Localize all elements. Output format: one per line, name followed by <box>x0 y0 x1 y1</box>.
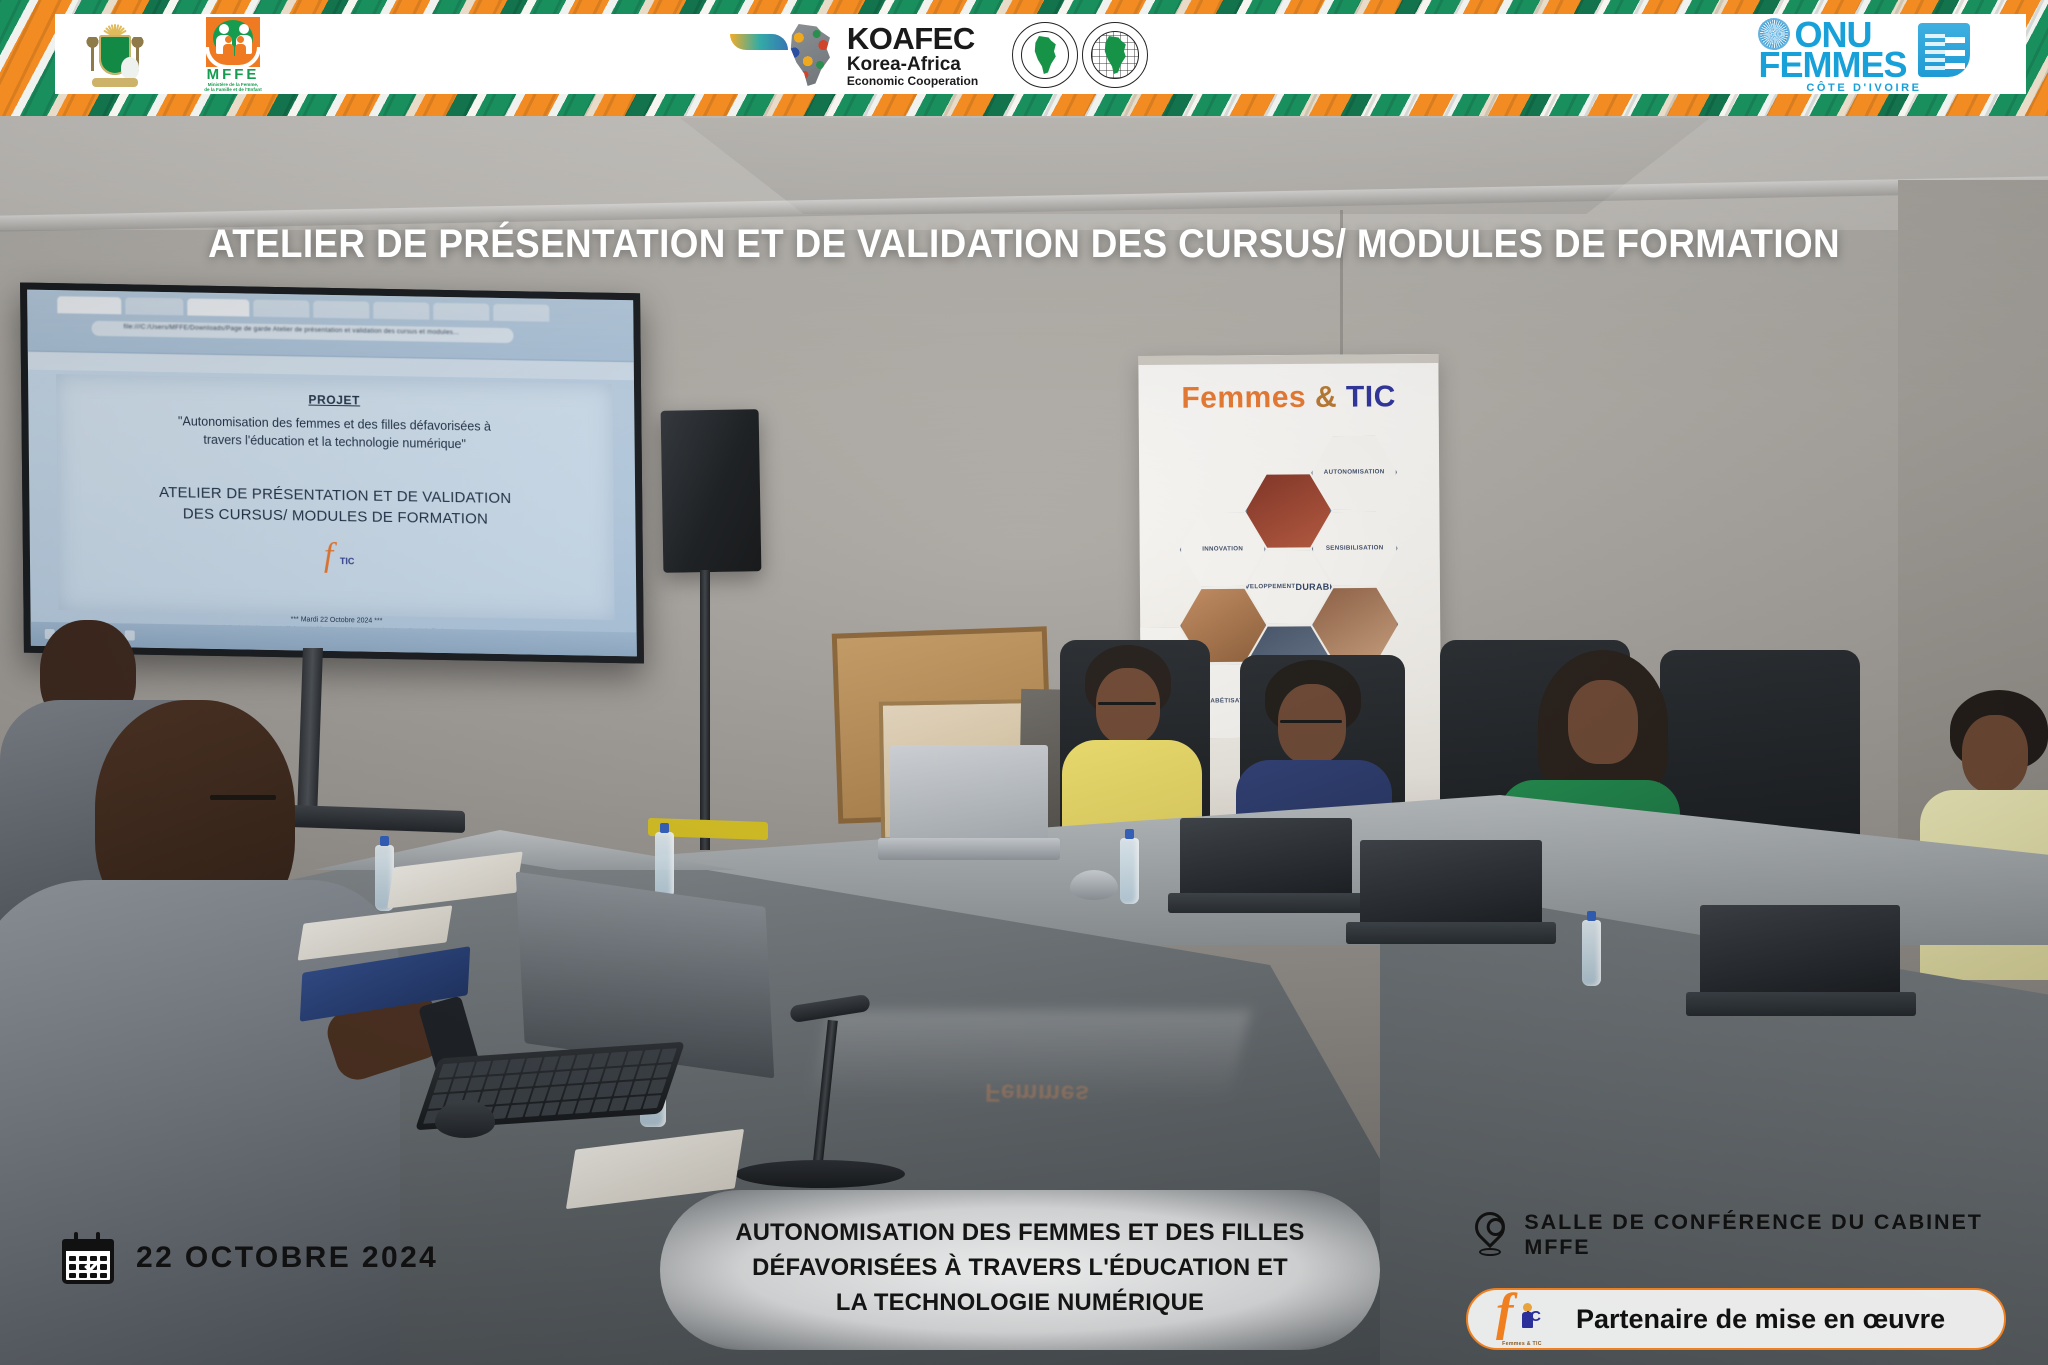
ftic-f-glyph: f <box>1496 1287 1513 1339</box>
browser-tab[interactable] <box>253 300 309 318</box>
water-bottle <box>1582 920 1601 986</box>
onu-country-label: CÔTE D'IVOIRE <box>1806 82 1921 94</box>
mffe-logo-icon: MFFE Ministère de la Femme, de la Famill… <box>193 17 273 93</box>
water-bottle <box>1120 838 1139 904</box>
header-pattern-band: MFFE Ministère de la Femme, de la Famill… <box>0 0 2048 116</box>
banner-title: Femmes & TIC <box>1139 380 1439 416</box>
caption-line-1: AUTONOMISATION DES FEMMES ET DES FILLES <box>704 1216 1336 1251</box>
screen-surface: file:///C:/Users/MFFE/Downloads/Page de … <box>27 290 637 657</box>
ftic-ic-glyph: IC <box>1526 1308 1541 1325</box>
browser-tab[interactable] <box>313 301 369 319</box>
banner-title-tic: TIC <box>1346 380 1396 413</box>
koafec-africa-mosaic <box>782 24 838 86</box>
koafec-wordmark: KOAFEC <box>847 23 978 54</box>
table-reflected-banner-text: Femmes <box>985 1077 1090 1108</box>
partner-label: Partenaire de mise en œuvre <box>1576 1304 1945 1335</box>
caption-line-3: LA TECHNOLOGIE NUMÉRIQUE <box>704 1286 1336 1321</box>
presentation-screen: file:///C:/Users/MFFE/Downloads/Page de … <box>20 283 644 664</box>
browser-tab[interactable] <box>493 304 549 322</box>
un-women-mark <box>1918 23 1970 77</box>
computer-mouse[interactable] <box>1070 870 1118 900</box>
logo-tic-glyph: TIC <box>340 556 355 566</box>
browser-tab[interactable] <box>57 296 121 314</box>
event-venue-block: SALLE DE CONFÉRENCE DU CABINET MFFE <box>1472 1210 2048 1260</box>
event-photograph: file:///C:/Users/MFFE/Downloads/Page de … <box>0 0 2048 1365</box>
ftic-subtitle: Femmes & TIC <box>1490 1341 1554 1347</box>
mffe-subtitle-line2: de la Famille et de l'Enfant <box>204 87 262 92</box>
loudspeaker <box>661 409 762 573</box>
event-venue-text: SALLE DE CONFÉRENCE DU CABINET MFFE <box>1524 1210 2048 1260</box>
slide-content: PROJET "Autonomisation des femmes et des… <box>56 374 614 620</box>
banner-title-femmes: Femmes <box>1181 381 1306 415</box>
koafec-logo-icon: KOAFEC Korea-Africa Economic Cooperation <box>745 20 1015 90</box>
logo-f-glyph: f <box>324 539 334 573</box>
header-logo-strip: MFFE Ministère de la Femme, de la Famill… <box>55 14 2026 94</box>
event-date-block: 22 OCTOBRE 2024 <box>62 1232 438 1284</box>
computer-mouse[interactable] <box>435 1100 495 1138</box>
banner-title-amp: & <box>1315 381 1337 414</box>
browser-tab[interactable] <box>433 303 489 321</box>
mffe-subtitle-line1: Ministère de la Femme, <box>208 82 259 87</box>
afdb-bank-seal-icon <box>1010 20 1080 90</box>
browser-chrome: file:///C:/Users/MFFE/Downloads/Page de … <box>27 290 634 363</box>
femmes-tic-logo-icon: f IC Femmes & TIC <box>1490 1294 1554 1344</box>
water-bottle <box>655 832 674 898</box>
slide-heading: PROJET <box>56 388 612 412</box>
koafec-line3: Economic Cooperation <box>847 75 978 87</box>
browser-tab[interactable] <box>373 302 429 320</box>
calendar-check-icon <box>62 1232 114 1284</box>
implementing-partner-badge: f IC Femmes & TIC Partenaire de mise en … <box>1466 1288 2006 1350</box>
caption-line-2: DÉFAVORISÉES À TRAVERS L'ÉDUCATION ET <box>704 1251 1336 1286</box>
slide-femmes-tic-logo: f TIC <box>316 541 356 578</box>
onu-femmes-logo-icon: ONU FEMMES CÔTE D'IVOIRE <box>1724 20 2004 92</box>
speaker-pole <box>700 570 710 850</box>
browser-tab[interactable] <box>125 297 183 315</box>
koafec-swoosh <box>730 34 788 50</box>
mffe-subtitle: Ministère de la Femme, de la Famille et … <box>195 82 271 93</box>
location-pin-icon <box>1472 1212 1507 1258</box>
page-title: ATELIER DE PRÉSENTATION ET DE VALIDATION… <box>82 222 1966 267</box>
banner-top-rail <box>1138 354 1438 365</box>
browser-tab[interactable] <box>187 298 249 316</box>
koafec-line2: Korea-Africa <box>847 55 978 74</box>
mffe-acronym: MFFE <box>195 66 271 83</box>
afdf-fund-seal-icon <box>1080 20 1150 90</box>
table-microphone-base <box>735 1160 905 1188</box>
femmes-word: FEMMES <box>1758 48 1906 81</box>
project-caption: AUTONOMISATION DES FEMMES ET DES FILLES … <box>660 1190 1380 1350</box>
coat-of-arms-icon <box>80 21 150 87</box>
event-date-text: 22 OCTOBRE 2024 <box>136 1241 438 1275</box>
poster-root: file:///C:/Users/MFFE/Downloads/Page de … <box>0 0 2048 1365</box>
